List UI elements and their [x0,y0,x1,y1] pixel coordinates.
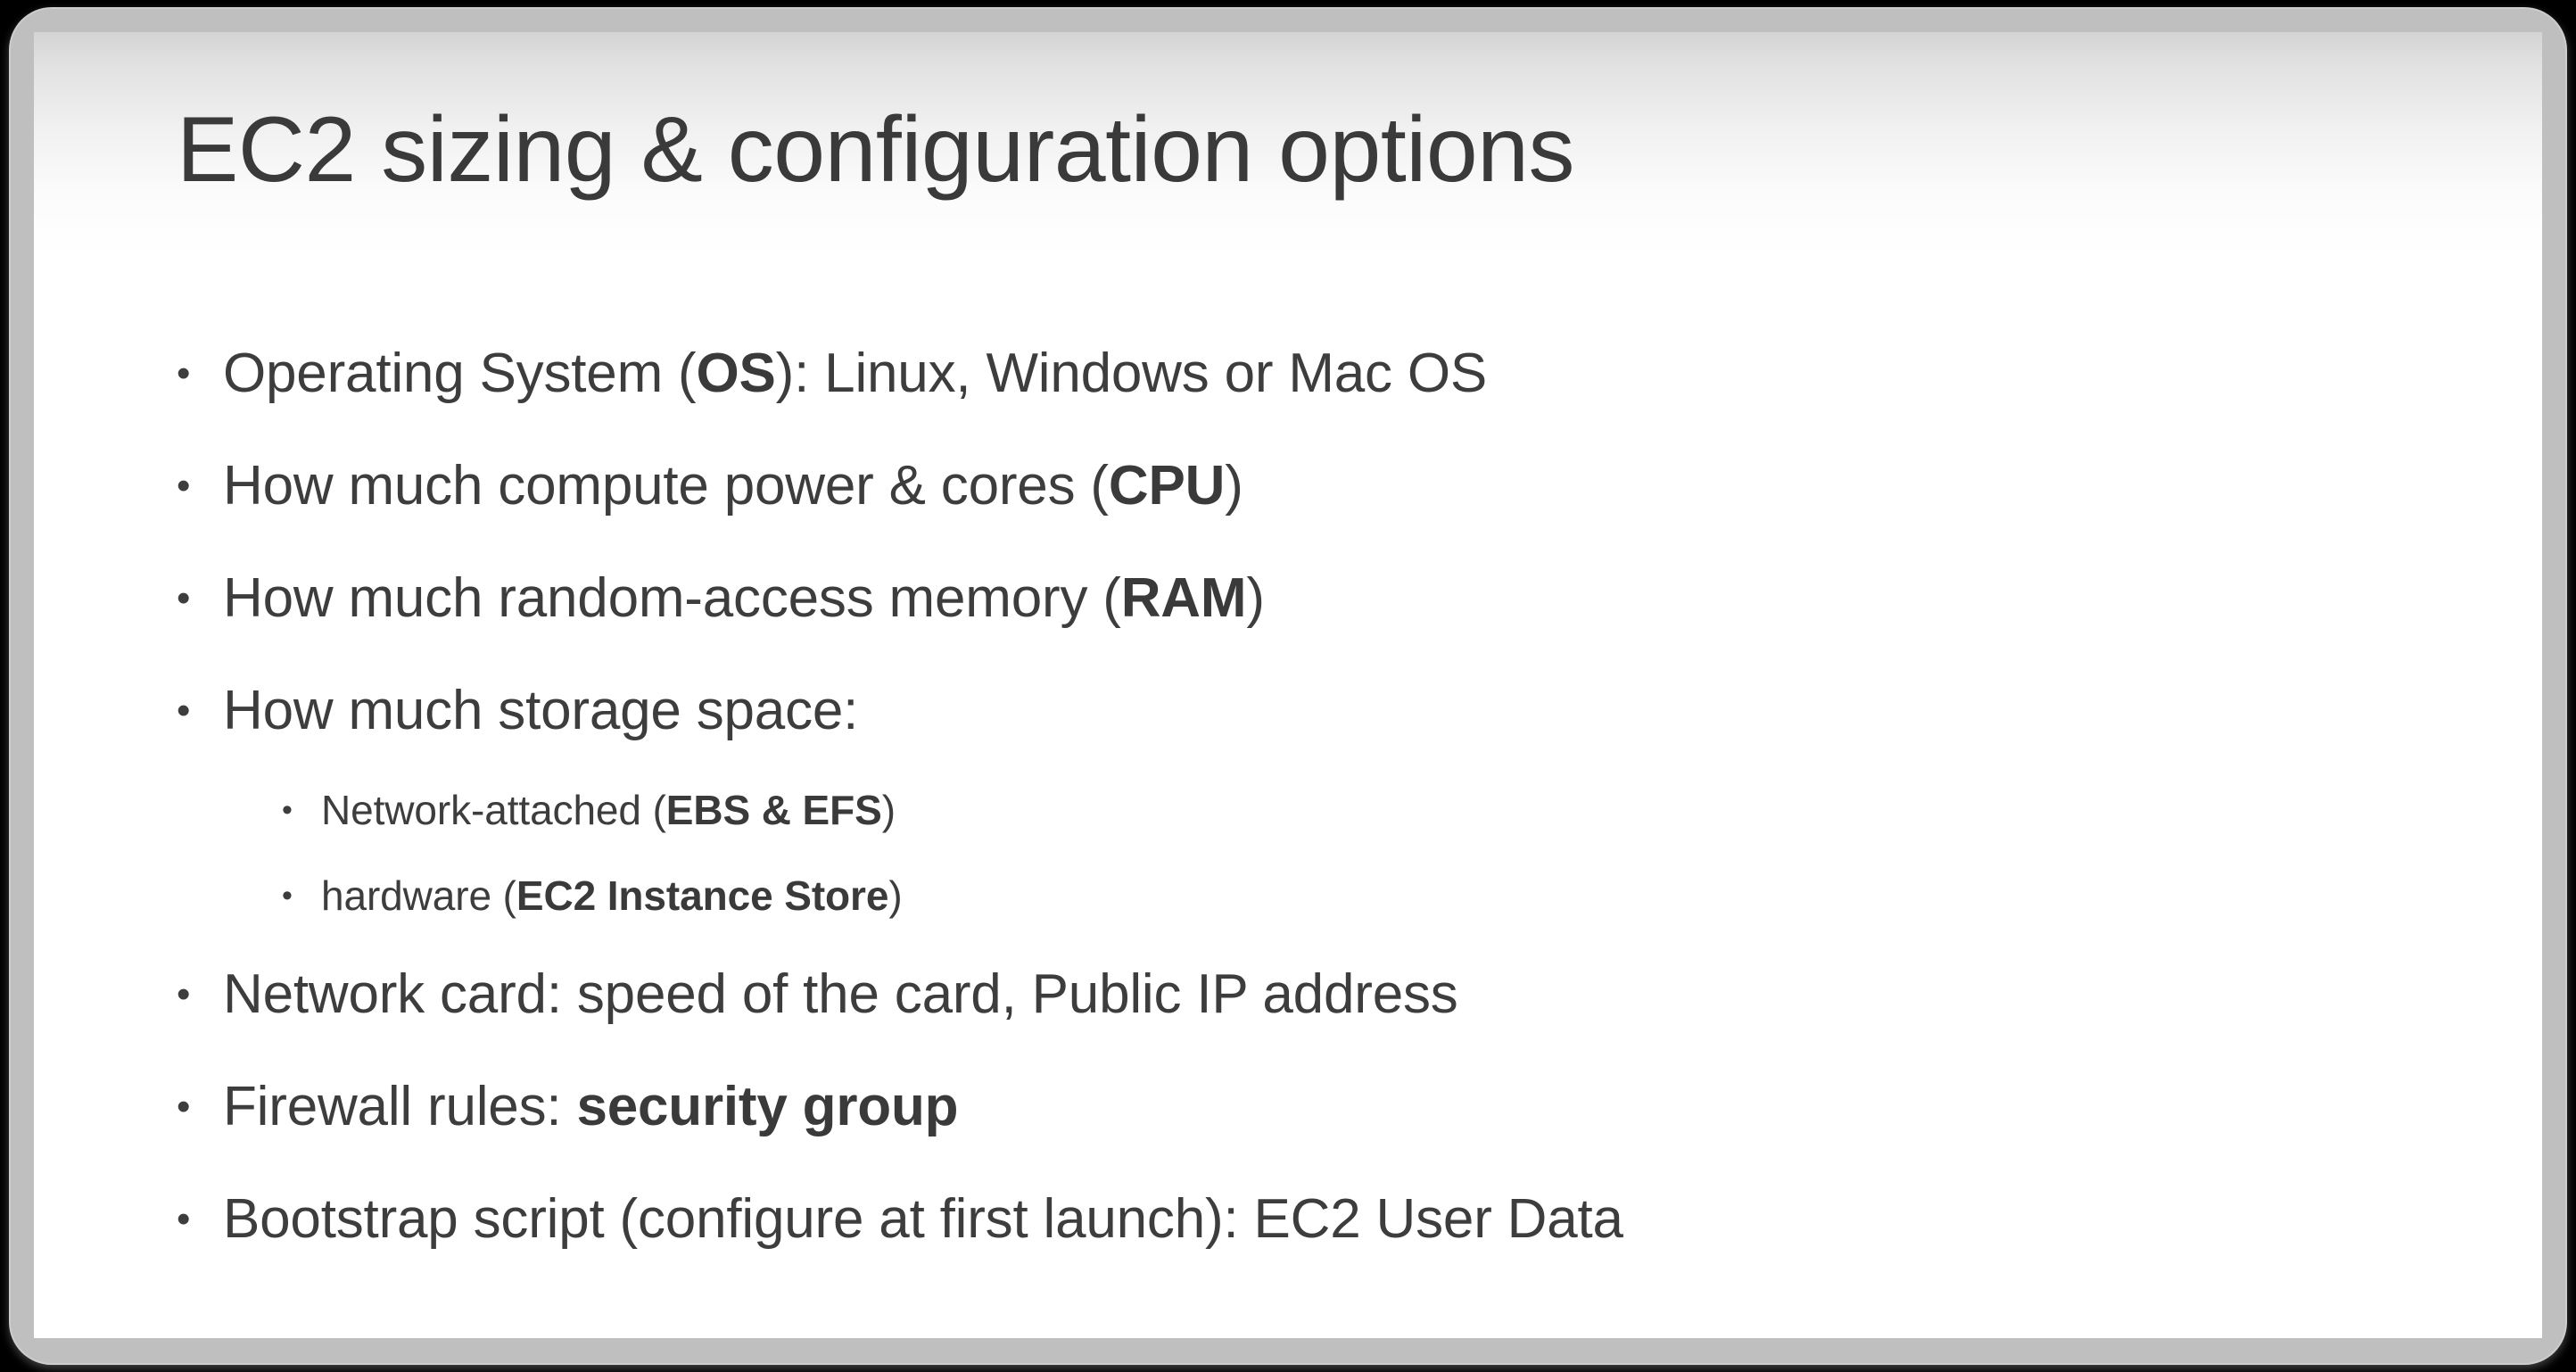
bullet-dot-icon: • [177,542,223,655]
bullet-dot-icon: • [282,767,321,853]
bullet-text: How much random-access memory (RAM) [223,542,2462,655]
bullet-item: •Network card: speed of the card, Public… [177,938,2462,1051]
bullet-emphasis-bold: EBS & EFS [666,787,882,833]
bullet-dot-icon: • [177,655,223,767]
slide-frame: EC2 sizing & configuration options •Oper… [11,9,2565,1363]
bullet-text-run: Network card: speed of the card, Public … [223,963,1458,1025]
bullet-dot-icon: • [177,430,223,542]
slide-canvas: EC2 sizing & configuration options •Oper… [34,32,2542,1338]
bullet-item: •hardware (EC2 Instance Store) [177,853,2462,938]
bullet-dot-icon: • [177,1163,223,1276]
bullet-item: •Bootstrap script (configure at first la… [177,1163,2462,1276]
bullet-text: Network-attached (EBS & EFS) [321,767,2462,853]
bullet-dot-icon: • [282,853,321,938]
bullet-item: •How much storage space: [177,655,2462,767]
bullet-emphasis-bold: security group [576,1076,958,1137]
bullet-text-run: ): Linux, Windows or Mac OS [776,343,1487,404]
bullet-dot-icon: • [177,938,223,1051]
bullet-text-run: ) [1225,455,1243,517]
bullet-text: Network card: speed of the card, Public … [223,938,2462,1051]
bullet-emphasis-semibold: OS [696,343,775,404]
slide-bullet-list: •Operating System (OS): Linux, Windows o… [177,318,2462,1276]
bullet-text: hardware (EC2 Instance Store) [321,853,2462,938]
bullet-text-run: Operating System ( [223,343,696,404]
bullet-text-run: hardware ( [321,872,516,919]
bullet-item: •Firewall rules: security group [177,1051,2462,1163]
bullet-item: •Network-attached (EBS & EFS) [177,767,2462,853]
bullet-text-run: ) [1246,567,1264,629]
bullet-emphasis-semibold: CPU [1109,455,1225,517]
bullet-text: Bootstrap script (configure at first lau… [223,1163,2462,1276]
bullet-text-run: How much random-access memory ( [223,567,1121,629]
bullet-dot-icon: • [177,1051,223,1163]
bullet-text: Operating System (OS): Linux, Windows or… [223,318,2462,430]
bullet-text-run: Network-attached ( [321,787,666,833]
bullet-item: •How much compute power & cores (CPU) [177,430,2462,542]
bullet-dot-icon: • [177,318,223,430]
bullet-emphasis-semibold: RAM [1121,567,1247,629]
bullet-item: •How much random-access memory (RAM) [177,542,2462,655]
bullet-item: •Operating System (OS): Linux, Windows o… [177,318,2462,430]
bullet-text-run: How much storage space: [223,680,858,741]
bullet-text: How much storage space: [223,655,2462,767]
bullet-text: Firewall rules: security group [223,1051,2462,1163]
bullet-text-run: How much compute power & cores ( [223,455,1109,517]
bullet-emphasis-bold: EC2 Instance Store [516,872,888,919]
slide-title: EC2 sizing & configuration options [177,102,1574,199]
bullet-text: How much compute power & cores (CPU) [223,430,2462,542]
bullet-text-run: Firewall rules: [223,1076,576,1137]
bullet-text-run: ) [882,787,896,833]
bullet-text-run: Bootstrap script (configure at first lau… [223,1188,1623,1250]
bullet-text-run: ) [888,872,902,919]
